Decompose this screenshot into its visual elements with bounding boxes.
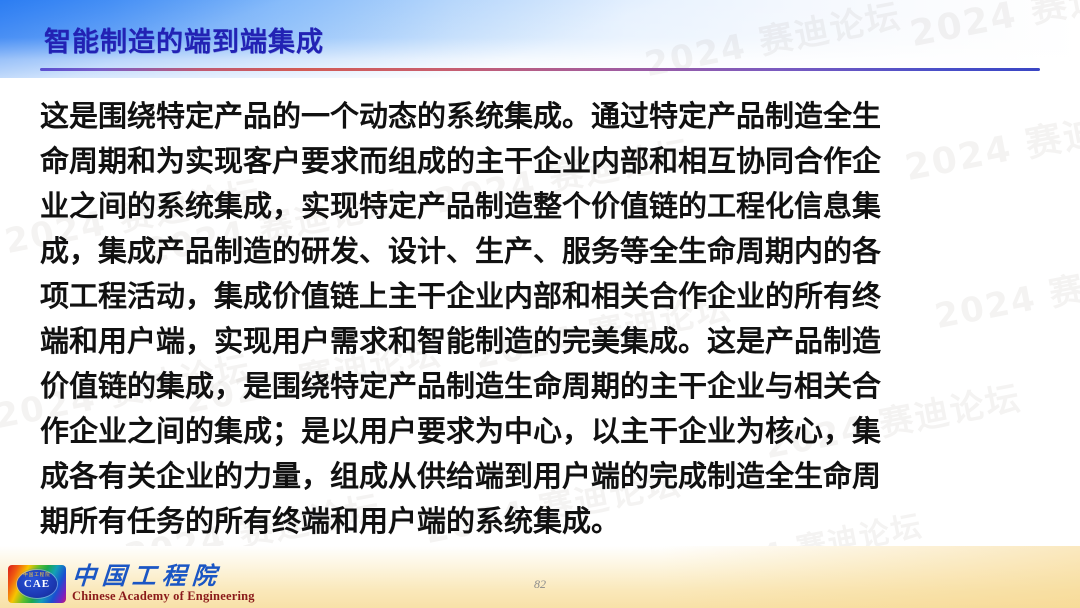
body-line: 端和用户端，实现用户需求和智能制造的完美集成。这是产品制造 [40,319,1042,364]
body-line: 价值链的集成，是围绕特定产品制造生命周期的主干企业与相关合 [40,364,1042,409]
emblem-sub-label: 中国工程院 [8,572,66,577]
body-line: 期所有任务的所有终端和用户端的系统集成。 [40,499,1042,544]
body-text-block: 这是围绕特定产品的一个动态的系统集成。通过特定产品制造全生命周期和为实现客户要求… [40,94,1042,544]
page-number: 82 [0,577,1080,592]
body-line: 成各有关企业的力量，组成从供给端到用户端的完成制造全生命周 [40,454,1042,499]
body-line: 作企业之间的集成；是以用户要求为中心，以主干企业为核心，集 [40,409,1042,454]
body-line: 成，集成产品制造的研发、设计、生产、服务等全生命周期内的各 [40,229,1042,274]
title-divider-rule [40,68,1040,71]
body-line: 项工程活动，集成价值链上主干企业内部和相关合作企业的所有终 [40,274,1042,319]
body-line: 业之间的系统集成，实现特定产品制造整个价值链的工程化信息集 [40,184,1042,229]
page-title: 智能制造的端到端集成 [44,20,324,59]
body-line: 这是围绕特定产品的一个动态的系统集成。通过特定产品制造全生 [40,94,1042,139]
slide-root: 2024 赛迪论坛2024 赛迪论坛2024 赛迪论坛2024 赛迪论坛2024… [0,0,1080,608]
body-line: 命周期和为实现客户要求而组成的主干企业内部和相互协同合作企 [40,139,1042,184]
